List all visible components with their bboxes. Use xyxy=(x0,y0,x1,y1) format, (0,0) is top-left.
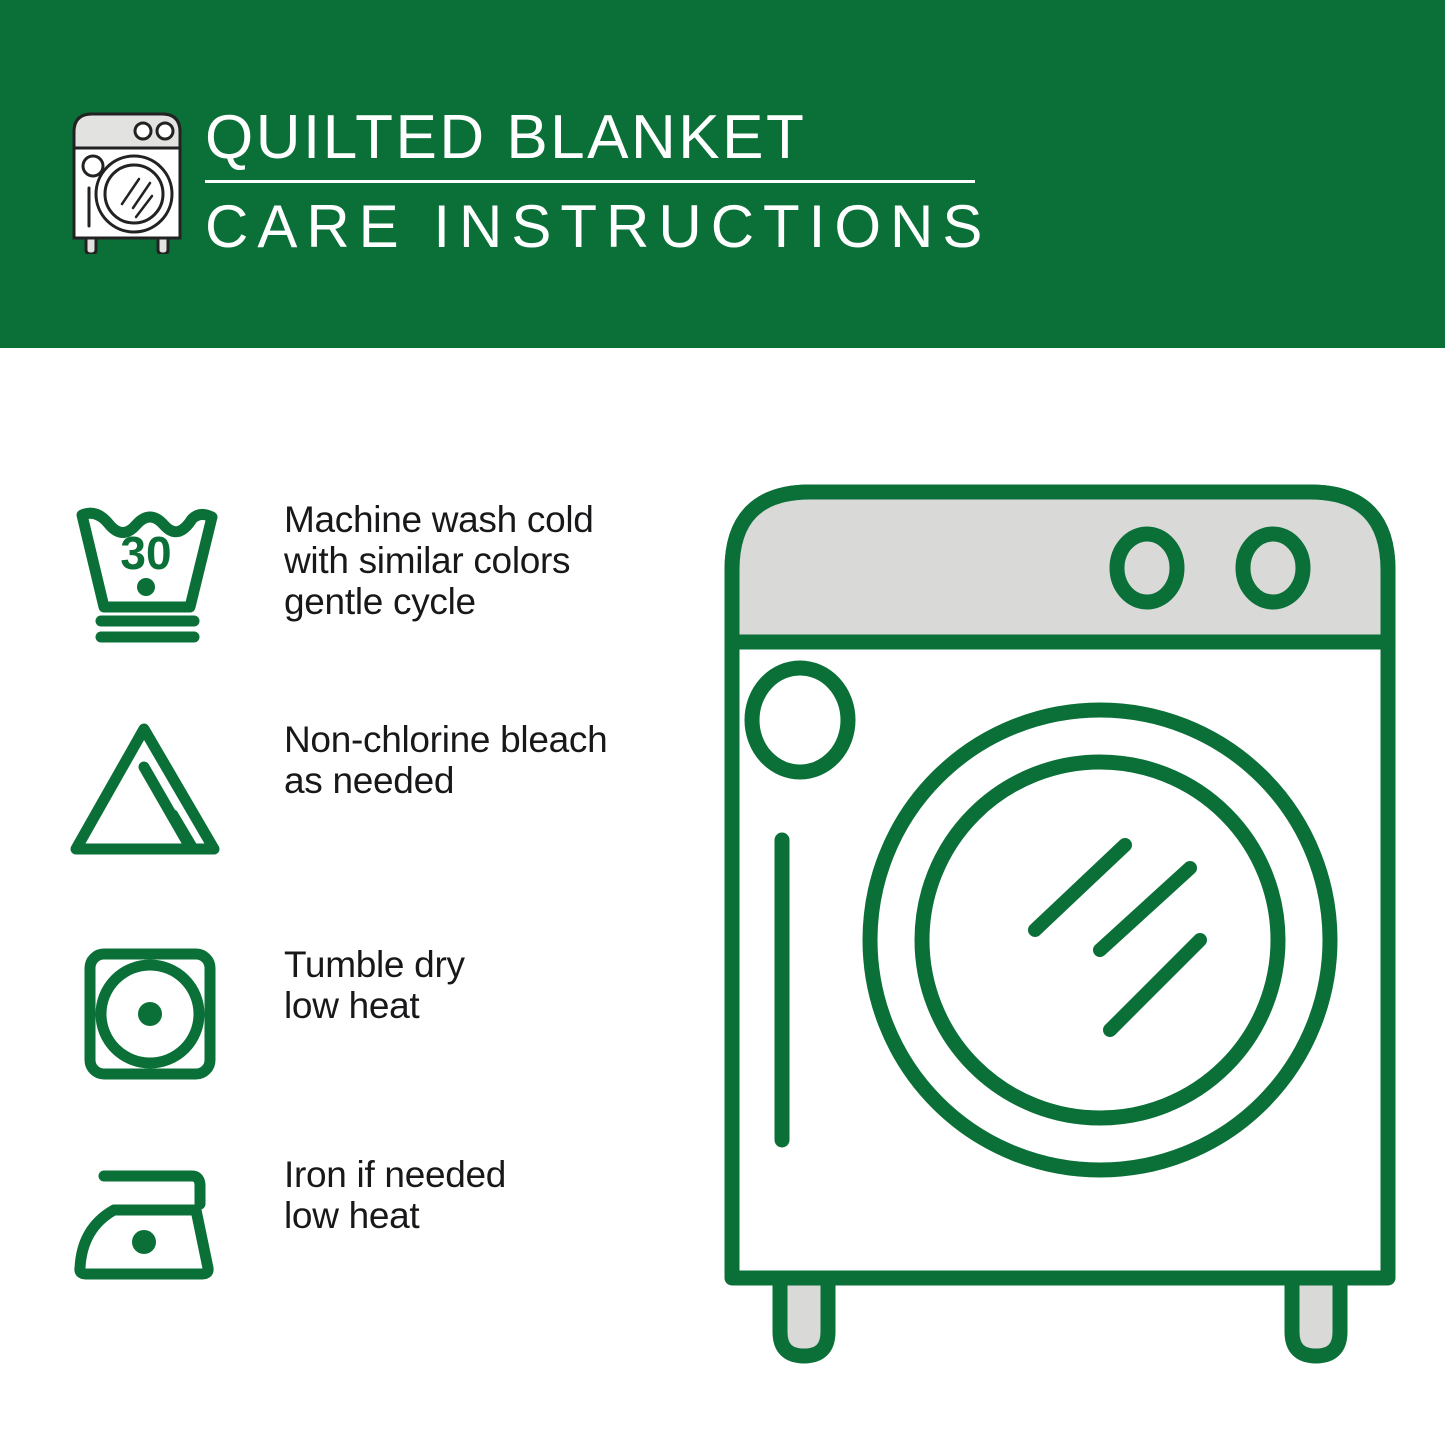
care-text-iron: Iron if needed low heat xyxy=(284,1150,506,1236)
care-row-tumble-dry: Tumble dry low heat xyxy=(66,940,686,1090)
washing-machine-icon xyxy=(66,104,188,254)
care-row-bleach: Non-chlorine bleach as needed xyxy=(66,715,686,865)
page-subtitle: CARE INSTRUCTIONS xyxy=(205,191,995,263)
header-text-block: QUILTED BLANKET CARE INSTRUCTIONS xyxy=(205,100,995,263)
wash-tub-30-gentle-icon: 30 xyxy=(66,495,234,645)
care-row-machine-wash: 30 Machine wash cold with similar colors… xyxy=(66,495,686,645)
washer-leg xyxy=(1292,1278,1340,1356)
iron-low-heat-icon xyxy=(66,1150,234,1300)
tumble-dry-low-heat-icon xyxy=(66,940,234,1090)
care-text-machine-wash: Machine wash cold with similar colors ge… xyxy=(284,495,594,622)
care-text-bleach: Non-chlorine bleach as needed xyxy=(284,715,607,801)
control-knob xyxy=(1117,534,1177,602)
care-row-iron: Iron if needed low heat xyxy=(66,1150,686,1300)
wash-temperature-label: 30 xyxy=(120,527,171,579)
title-divider xyxy=(205,180,975,183)
header-band: QUILTED BLANKET CARE INSTRUCTIONS xyxy=(0,0,1445,348)
care-text-tumble-dry: Tumble dry low heat xyxy=(284,940,465,1026)
care-instructions-infographic: QUILTED BLANKET CARE INSTRUCTIONS 30 Mac… xyxy=(0,0,1445,1445)
page-title: QUILTED BLANKET xyxy=(205,100,995,176)
non-chlorine-bleach-triangle-icon xyxy=(66,715,234,865)
control-knob xyxy=(1243,534,1303,602)
detergent-port xyxy=(752,668,848,772)
washing-machine-illustration xyxy=(710,470,1410,1370)
washer-leg xyxy=(780,1278,828,1356)
